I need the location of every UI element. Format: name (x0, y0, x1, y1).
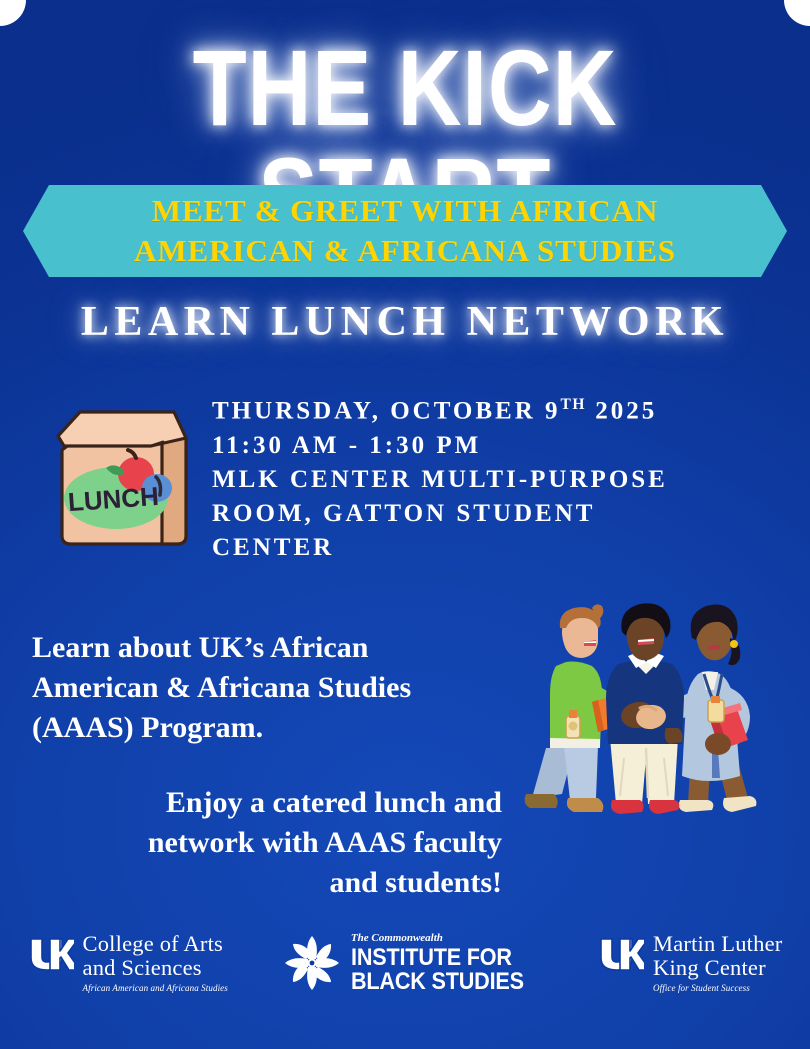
logo-top-line: The Commonwealth (351, 932, 543, 944)
description-paragraph-right: Enjoy a catered lunch and network with A… (78, 783, 502, 904)
uk-interlocking-icon (28, 935, 74, 975)
event-year: 2025 (595, 397, 657, 424)
logo-title-line-1: INSTITUTE FOR (351, 946, 524, 970)
event-date-text: THURSDAY, OCTOBER 9 (212, 397, 561, 424)
description-paragraph-left: Learn about UK’s African American & Afri… (32, 628, 452, 749)
event-location-line-3: CENTER (212, 531, 792, 565)
flyer-subtitle: LEARN LUNCH NETWORK (0, 298, 810, 346)
uk-interlocking-icon (598, 935, 644, 975)
logo-college-of-arts-and-sciences: College of Arts and Sciences African Ame… (28, 932, 228, 993)
event-flyer: THE KICK START MEET & GREET WITH AFRICAN… (0, 0, 810, 1049)
banner-line-2: AMERICAN & AFRICANA STUDIES (134, 231, 676, 271)
three-people-icon (512, 598, 780, 830)
event-details: THURSDAY, OCTOBER 9TH 2025 11:30 AM - 1:… (212, 394, 792, 566)
logo-text-block: College of Arts and Sciences African Ame… (83, 932, 228, 993)
page-corner-top-left (0, 0, 26, 26)
logo-text-block: The Commonwealth INSTITUTE FOR BLACK STU… (351, 932, 543, 994)
description-right-line-3: and students! (78, 863, 502, 903)
event-time: 11:30 AM - 1:30 PM (212, 429, 792, 463)
people-handshake-illustration (512, 598, 780, 830)
lunch-bag-icon: LUNCH (44, 398, 204, 553)
description-left-line-3: (AAAS) Program. (32, 708, 452, 748)
logo-title-line-1: Martin Luther (653, 932, 782, 956)
event-location-line-1: MLK CENTER MULTI-PURPOSE (212, 463, 792, 497)
description-left-line-2: American & Africana Studies (32, 668, 452, 708)
teal-banner: MEET & GREET WITH AFRICAN AMERICAN & AFR… (23, 185, 787, 277)
logo-text-block: Martin Luther King Center Office for Stu… (653, 932, 782, 993)
lunch-bag-label: LUNCH (67, 481, 160, 517)
lunch-bag-illustration: LUNCH (44, 398, 204, 553)
logo-title-line-2: and Sciences (83, 956, 228, 980)
logo-martin-luther-king-center: Martin Luther King Center Office for Stu… (598, 932, 782, 993)
logo-institute-for-black-studies: The Commonwealth INSTITUTE FOR BLACK STU… (283, 932, 543, 994)
description-right-line-2: network with AAAS faculty (78, 823, 502, 863)
pinwheel-starburst-icon (283, 934, 341, 992)
banner-line-1: MEET & GREET WITH AFRICAN (152, 191, 659, 231)
logo-subtitle: Office for Student Success (653, 983, 782, 994)
page-corner-top-right (784, 0, 810, 26)
event-location-line-2: ROOM, GATTON STUDENT (212, 497, 792, 531)
event-date: THURSDAY, OCTOBER 9TH 2025 (212, 394, 792, 429)
description-left-line-1: Learn about UK’s African (32, 628, 452, 668)
logo-title-line-1: College of Arts (83, 932, 228, 956)
logo-title-line-2: King Center (653, 956, 782, 980)
sponsor-logo-row: College of Arts and Sciences African Ame… (0, 932, 810, 1016)
logo-subtitle: African American and Africana Studies (83, 983, 228, 994)
logo-title-line-2: BLACK STUDIES (351, 970, 524, 994)
event-date-ordinal: TH (561, 396, 586, 413)
description-right-line-1: Enjoy a catered lunch and (78, 783, 502, 823)
